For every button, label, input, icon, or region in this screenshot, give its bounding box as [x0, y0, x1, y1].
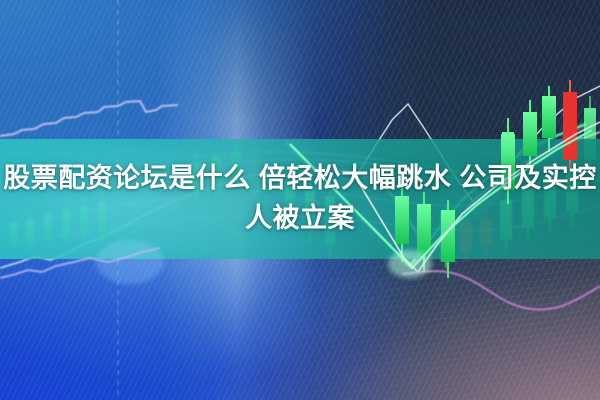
magenta-moving-average: [402, 271, 600, 309]
headline-line-2: 人被立案: [0, 198, 600, 238]
headline-text: 股票配资论坛是什么 倍轻松大幅跳水 公司及实控 人被立案: [0, 158, 600, 238]
convergence-glow: [96, 240, 432, 284]
banner-image: 股票配资论坛是什么 倍轻松大幅跳水 公司及实控 人被立案: [0, 0, 600, 400]
headline-line-1: 股票配资论坛是什么 倍轻松大幅跳水 公司及实控: [0, 158, 600, 198]
